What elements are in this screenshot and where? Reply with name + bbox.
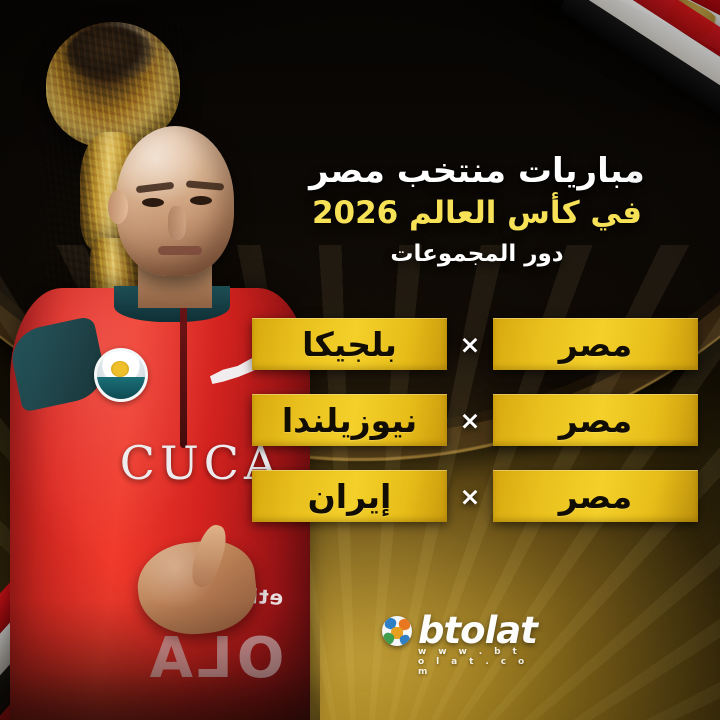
headline-line-2: في كأس العالم 2026	[268, 196, 686, 231]
football-icon	[382, 616, 412, 646]
match-separator: ×	[447, 406, 493, 435]
logo-website-url: w w w . b t o l a t . c o m	[418, 647, 537, 677]
logo-wordmark: btolat	[418, 612, 537, 649]
graphic-canvas: CUCA etisalat and OLA مباريات منتخب مصر …	[0, 0, 720, 720]
match-separator: ×	[447, 330, 493, 359]
match-home-team: مصر	[493, 470, 698, 522]
match-home-team: مصر	[493, 318, 698, 370]
btolat-logo: btolat w w w . b t o l a t . c o m	[382, 612, 537, 649]
headline-line-1: مباريات منتخب مصر	[268, 152, 686, 190]
match-row: مصر × نيوزيلندا	[252, 394, 700, 446]
match-separator: ×	[447, 482, 493, 511]
match-away-team: نيوزيلندا	[252, 394, 447, 446]
headline-block: مباريات منتخب مصر في كأس العالم 2026 دور…	[268, 152, 686, 267]
egyptian-football-association-crest-icon	[94, 348, 148, 402]
match-home-team: مصر	[493, 394, 698, 446]
match-row: مصر × إيران	[252, 470, 700, 522]
match-list: مصر × بلجيكا مصر × نيوزيلندا مصر × إيران	[252, 318, 700, 522]
match-row: مصر × بلجيكا	[252, 318, 700, 370]
headline-line-3: دور المجموعات	[268, 241, 686, 267]
match-away-team: بلجيكا	[252, 318, 447, 370]
match-away-team: إيران	[252, 470, 447, 522]
